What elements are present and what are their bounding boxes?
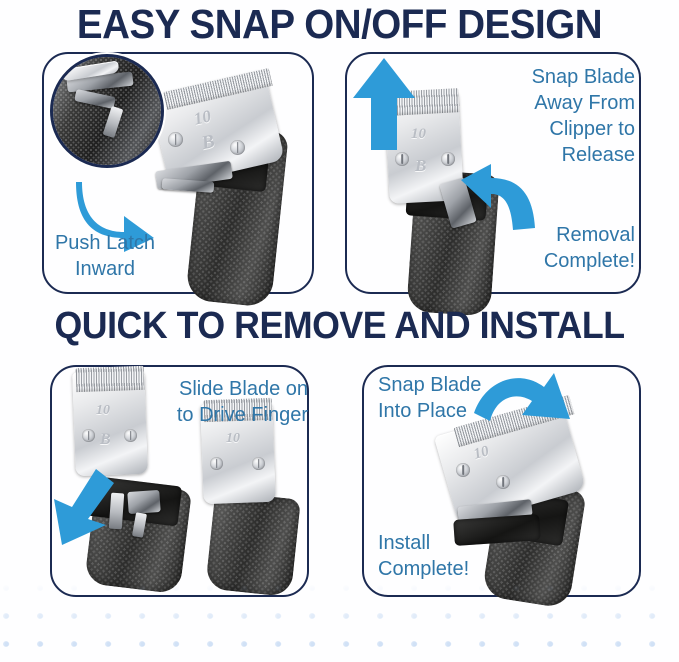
caption-snap-blade-into-place: Snap Blade Into Place bbox=[378, 372, 538, 424]
caption-push-latch: Push Latch Inward bbox=[30, 230, 180, 282]
caption-install-complete: Install Complete! bbox=[378, 530, 548, 582]
page-title-primary: EASY SNAP ON/OFF DESIGN bbox=[20, 1, 658, 48]
caption-removal-complete: Removal Complete! bbox=[455, 222, 635, 274]
infographic-canvas: EASY SNAP ON/OFF DESIGN 10 B bbox=[0, 0, 679, 662]
caption-snap-blade-away: Snap Blade Away From Clipper to Release bbox=[455, 64, 635, 168]
page-title-secondary: QUICK TO REMOVE AND INSTALL bbox=[20, 305, 658, 348]
caption-slide-blade-on: Slide Blade on to Drive Finger bbox=[138, 376, 308, 428]
